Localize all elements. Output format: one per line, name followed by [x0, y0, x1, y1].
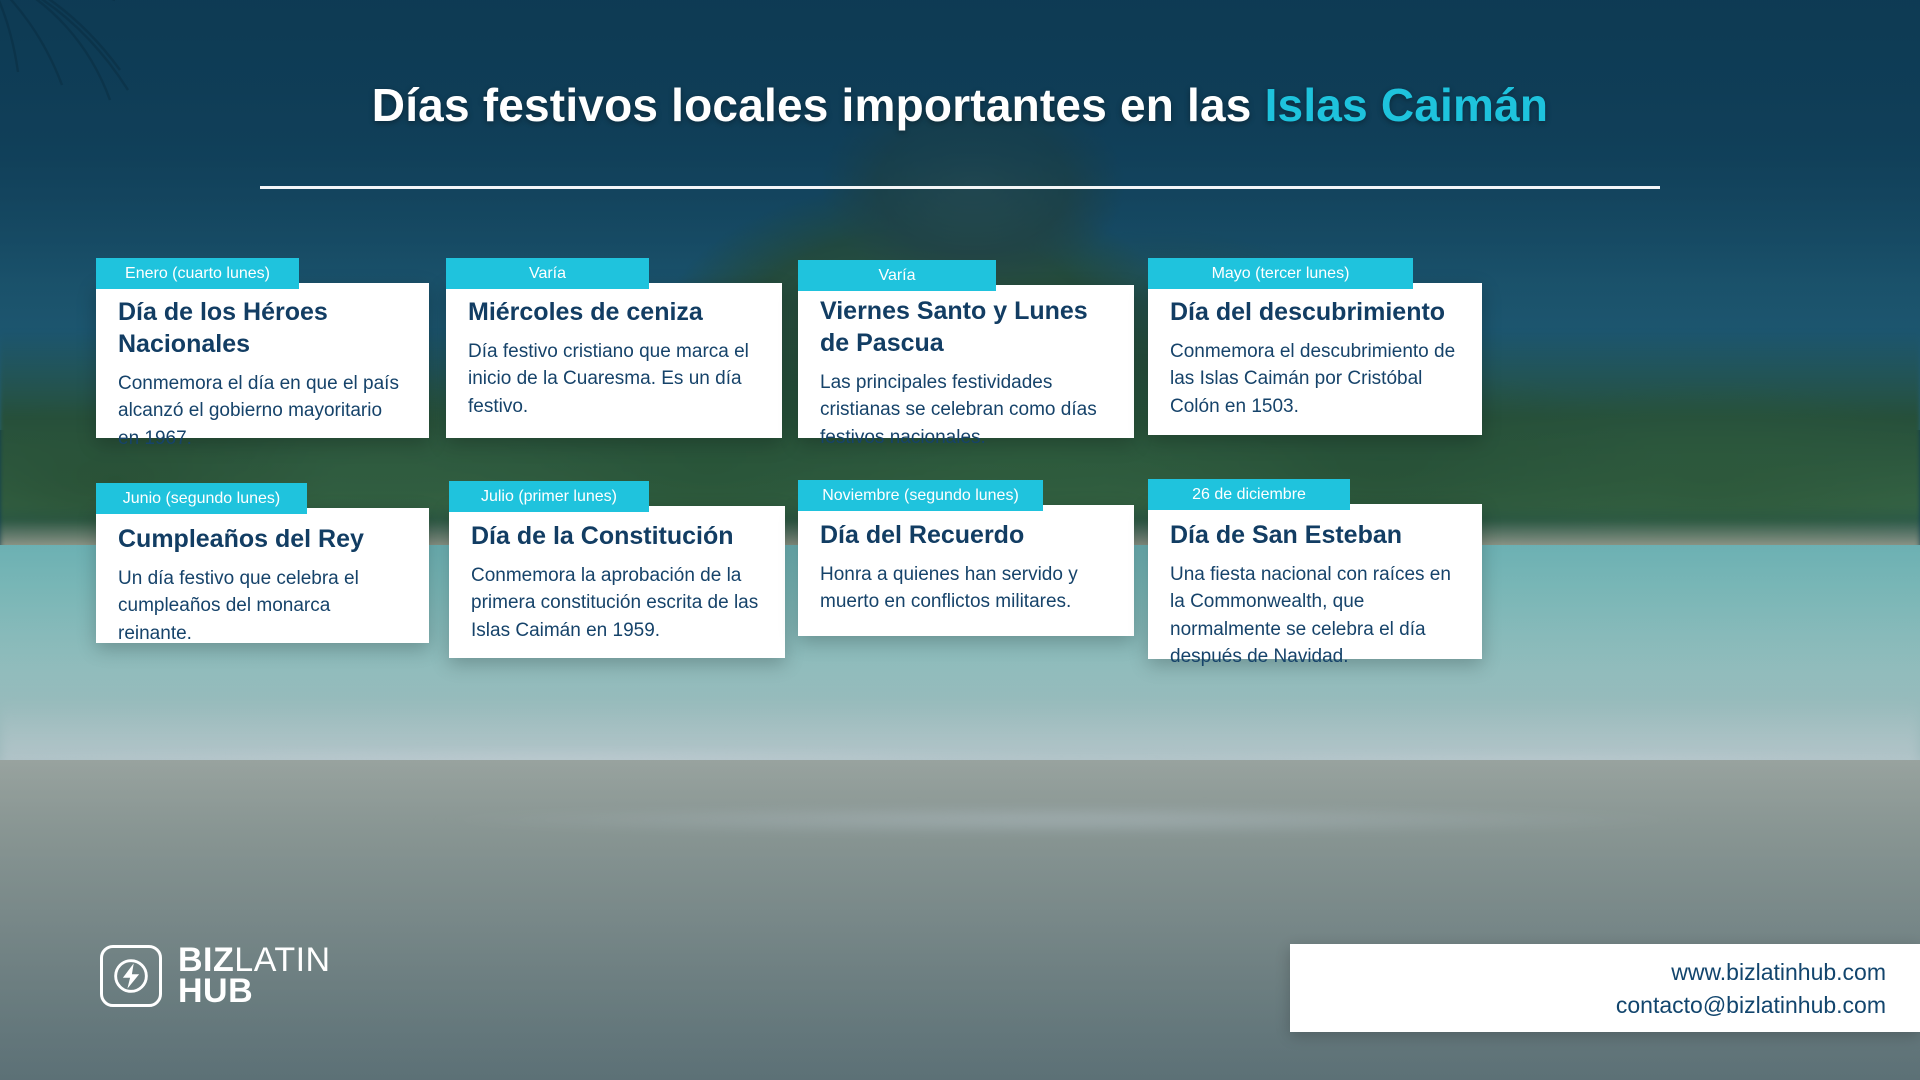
card-title: Cumpleaños del Rey: [118, 524, 407, 556]
card-description: Conmemora la aprobación de la primera co…: [471, 562, 763, 645]
card-body: Día de la Constitución Conmemora la apro…: [449, 506, 785, 660]
logo-wordmark: BIZLATIN HUB: [178, 945, 331, 1008]
card-body: Día de San Esteban Una fiesta nacional c…: [1148, 504, 1482, 687]
card-date-badge: Enero (cuarto lunes): [96, 258, 299, 289]
card-body: Día del descubrimiento Conmemora el desc…: [1148, 283, 1482, 436]
card-description: Una fiesta nacional con raíces en la Com…: [1170, 561, 1460, 671]
page-title-highlight: Islas Caimán: [1265, 79, 1549, 131]
contact-website[interactable]: www.bizlatinhub.com: [1290, 956, 1886, 989]
contact-info-box: www.bizlatinhub.com contacto@bizlatinhub…: [1290, 944, 1920, 1032]
holiday-card: 26 de diciembre Día de San Esteban Una f…: [1148, 504, 1482, 659]
infographic-canvas: Días festivos locales importantes en las…: [0, 0, 1920, 1080]
page-title: Días festivos locales importantes en las…: [0, 78, 1920, 132]
card-body: Día de los Héroes Nacionales Conmemora e…: [96, 283, 429, 468]
holiday-card: Junio (segundo lunes) Cumpleaños del Rey…: [96, 508, 429, 643]
brand-logo: BIZLATIN HUB: [100, 945, 331, 1008]
card-description: Un día festivo que celebra el cumpleaños…: [118, 565, 407, 648]
holiday-card: Varía Viernes Santo y Lunes de Pascua La…: [798, 285, 1134, 438]
holiday-card: Varía Miércoles de ceniza Día festivo cr…: [446, 283, 782, 438]
card-description: Conmemora el descubrimiento de las Islas…: [1170, 338, 1460, 421]
card-description: Día festivo cristiano que marca el inici…: [468, 338, 760, 421]
contact-email[interactable]: contacto@bizlatinhub.com: [1290, 989, 1886, 1022]
card-title: Viernes Santo y Lunes de Pascua: [820, 296, 1112, 360]
card-date-badge: Varía: [798, 260, 996, 291]
card-body: Día del Recuerdo Honra a quienes han ser…: [798, 505, 1134, 632]
card-title: Día de la Constitución: [471, 521, 763, 553]
card-date-badge: Mayo (tercer lunes): [1148, 258, 1413, 289]
logo-word-hub: HUB: [178, 976, 331, 1007]
holiday-card: Julio (primer lunes) Día de la Constituc…: [449, 506, 785, 658]
card-title: Día del descubrimiento: [1170, 297, 1460, 329]
holiday-card: Enero (cuarto lunes) Día de los Héroes N…: [96, 283, 429, 438]
card-date-badge: Junio (segundo lunes): [96, 483, 307, 514]
holiday-card: Mayo (tercer lunes) Día del descubrimien…: [1148, 283, 1482, 435]
card-title: Miércoles de ceniza: [468, 297, 760, 329]
title-divider: [260, 186, 1660, 189]
logo-mark-icon: [100, 945, 162, 1007]
card-description: Las principales festividades cristianas …: [820, 369, 1112, 452]
card-title: Día de San Esteban: [1170, 520, 1460, 552]
card-body: Miércoles de ceniza Día festivo cristian…: [446, 283, 782, 436]
logo-bolt-icon: [103, 948, 159, 1004]
card-date-badge: Noviembre (segundo lunes): [798, 480, 1043, 511]
page-title-main: Días festivos locales importantes en las: [372, 79, 1265, 131]
card-body: Viernes Santo y Lunes de Pascua Las prin…: [798, 285, 1134, 467]
card-description: Conmemora el día en que el país alcanzó …: [118, 370, 407, 453]
card-date-badge: Julio (primer lunes): [449, 481, 649, 512]
card-body: Cumpleaños del Rey Un día festivo que ce…: [96, 508, 429, 663]
card-date-badge: Varía: [446, 258, 649, 289]
holiday-card: Noviembre (segundo lunes) Día del Recuer…: [798, 505, 1134, 636]
card-date-badge: 26 de diciembre: [1148, 479, 1350, 510]
card-title: Día del Recuerdo: [820, 520, 1112, 552]
card-description: Honra a quienes han servido y muerto en …: [820, 561, 1112, 616]
card-title: Día de los Héroes Nacionales: [118, 297, 407, 361]
